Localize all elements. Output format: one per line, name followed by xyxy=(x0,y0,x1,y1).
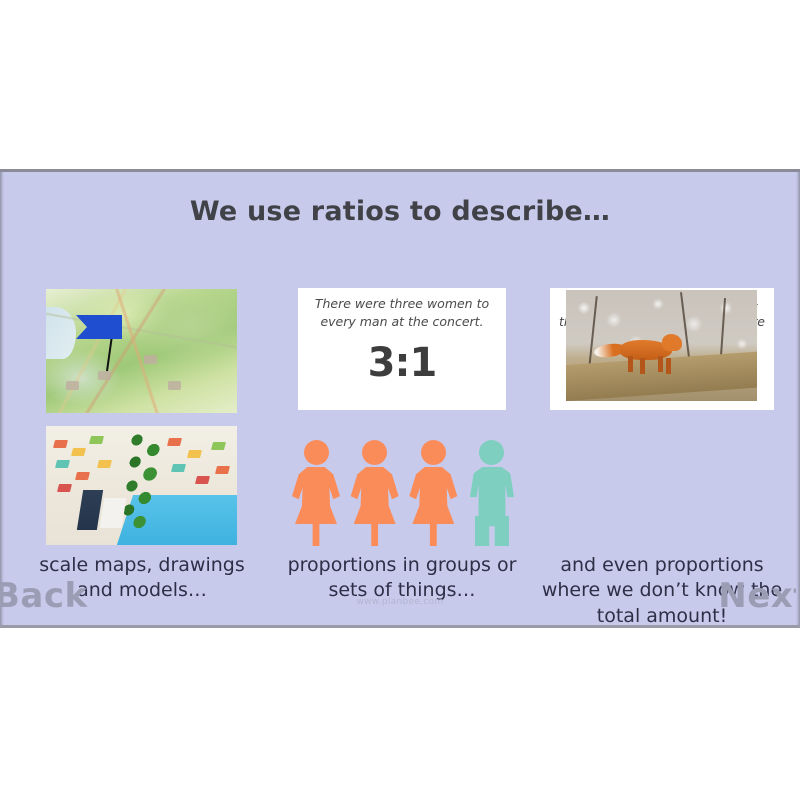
ratio-card-concert: There were three women to every man at t… xyxy=(298,288,506,410)
woman-figure xyxy=(290,440,342,546)
ratio-value: 3:1 xyxy=(304,343,500,383)
lesson-slide: We use ratios to describe… xyxy=(0,169,800,628)
model-building xyxy=(195,476,210,484)
map-with-flag-pin-image xyxy=(46,289,237,413)
map-town-marker xyxy=(66,381,79,390)
map-roads-overlay xyxy=(46,289,237,413)
figure-torso xyxy=(468,467,516,519)
figure-legs xyxy=(416,516,450,546)
fox-on-hay-bales-image xyxy=(566,290,757,401)
people-pictogram xyxy=(290,424,518,546)
footer-website-url: www.planbee.com xyxy=(0,597,800,607)
fox-leg xyxy=(640,358,645,374)
figure-head xyxy=(421,440,446,465)
figure-head xyxy=(479,440,504,465)
fox-leg xyxy=(666,358,671,374)
back-button[interactable]: Back xyxy=(0,576,88,616)
woman-figure xyxy=(349,440,401,546)
figure-legs xyxy=(299,516,333,546)
map-town-marker xyxy=(144,355,157,364)
figure-legs xyxy=(475,516,509,546)
woman-figure xyxy=(407,440,459,546)
map-town-marker xyxy=(98,371,111,380)
map-town-marker xyxy=(168,381,181,390)
model-building xyxy=(55,460,70,468)
model-building xyxy=(171,464,186,472)
model-building xyxy=(167,438,182,446)
model-building xyxy=(71,448,86,456)
model-building xyxy=(75,472,90,480)
next-button[interactable]: Next xyxy=(718,576,800,616)
scale-city-model-image xyxy=(46,426,237,545)
fox-head xyxy=(662,334,682,351)
model-building xyxy=(97,460,112,468)
fox-leg xyxy=(658,356,663,372)
caption-proportions-in-groups: proportions in groups or sets of things… xyxy=(282,553,522,604)
page-title: We use ratios to describe… xyxy=(0,196,800,227)
page-canvas: We use ratios to describe… xyxy=(0,0,800,800)
model-building xyxy=(53,440,68,448)
figure-head xyxy=(362,440,387,465)
fox-leg xyxy=(628,356,633,372)
model-building xyxy=(211,442,226,450)
man-figure xyxy=(466,440,518,546)
model-building xyxy=(57,484,72,492)
figure-legs xyxy=(358,516,392,546)
ratio-card-caption: There were three women to every man at t… xyxy=(304,295,500,331)
model-building xyxy=(215,466,230,474)
model-building xyxy=(89,436,104,444)
figure-head xyxy=(304,440,329,465)
model-building xyxy=(187,450,202,458)
